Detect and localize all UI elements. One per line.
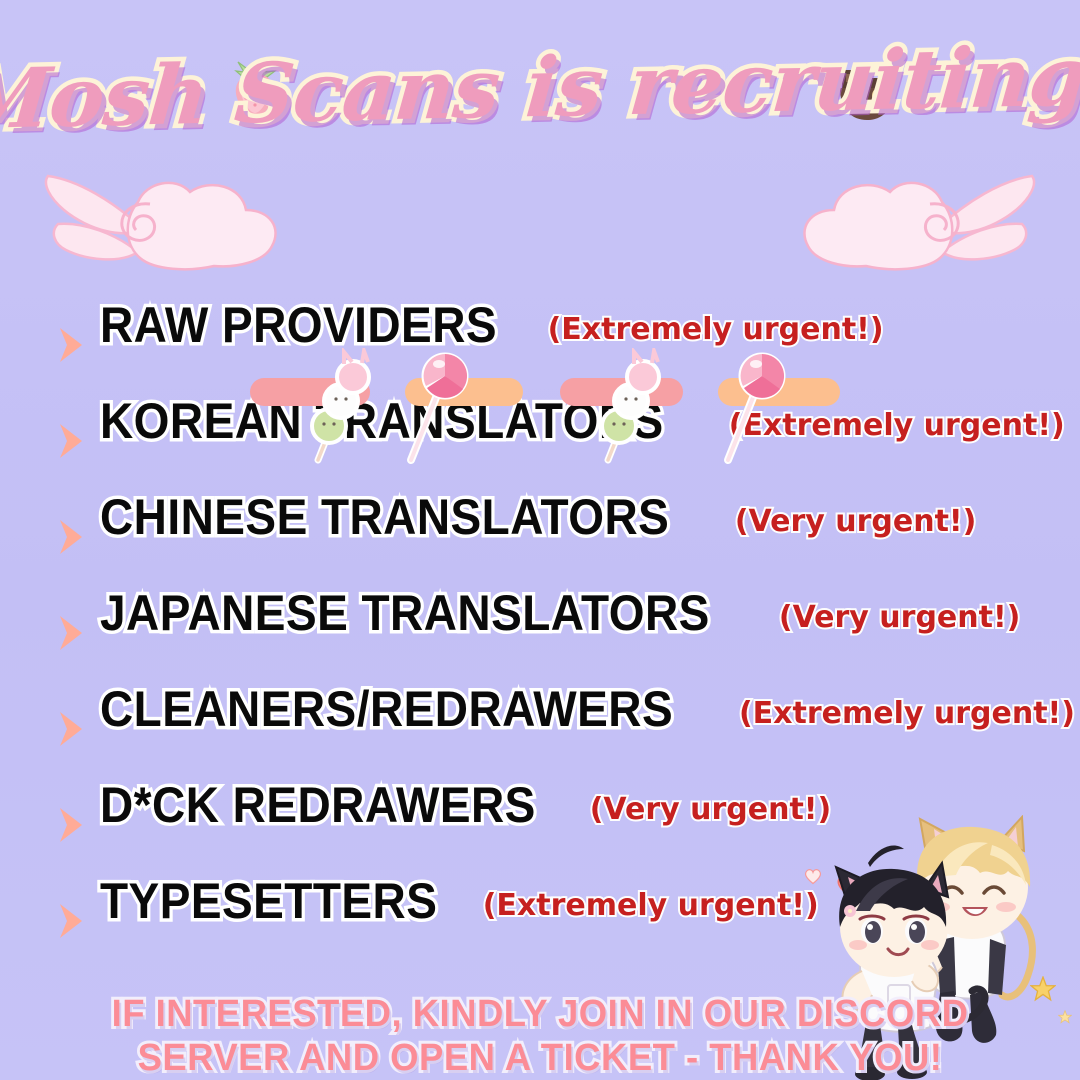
list-item: RAW PROVIDERS (Extremely urgent!) — [0, 296, 1080, 392]
role-urgency-badge: (Very urgent!) — [735, 504, 977, 539]
recruitment-poster: Mosh Scans is recruiting! — [0, 0, 1080, 1080]
chevron-right-icon — [54, 324, 88, 366]
list-item: CLEANERS/REDRAWERS (Extremely urgent!) — [0, 680, 1080, 776]
list-item: JAPANESE TRANSLATORS (Very urgent!) — [0, 584, 1080, 680]
role-urgency-badge: (Extremely urgent!) — [548, 312, 884, 347]
lollipop-icon — [395, 346, 477, 466]
lollipop-icon — [712, 346, 794, 466]
decorative-divider — [0, 160, 1080, 295]
footer-line-1: IF INTERESTED, KINDLY JOIN IN OUR DISCOR… — [22, 992, 1059, 1036]
list-item: KOREAN TRANSLATORS (Extremely urgent!) — [0, 392, 1080, 488]
role-title: CHINESE TRANSLATORS — [100, 488, 669, 546]
list-item: CHINESE TRANSLATORS (Very urgent!) — [0, 488, 1080, 584]
chevron-right-icon — [54, 708, 88, 750]
chevron-right-icon — [54, 420, 88, 462]
footer-callout: IF INTERESTED, KINDLY JOIN IN OUR DISCOR… — [0, 992, 1080, 1080]
page-title: Mosh Scans is recruiting! — [0, 28, 1080, 148]
chevron-right-icon — [54, 516, 88, 558]
footer-line-2: SERVER AND OPEN A TICKET - THANK YOU! — [22, 1036, 1059, 1080]
winged-cloud-icon — [787, 162, 1062, 292]
chevron-right-icon — [54, 612, 88, 654]
dango-skewer-icon — [590, 348, 672, 468]
role-title: TYPESETTERS — [100, 872, 437, 930]
role-urgency-badge: (Very urgent!) — [779, 600, 1021, 635]
role-urgency-badge: (Extremely urgent!) — [739, 696, 1075, 731]
chevron-right-icon — [54, 804, 88, 846]
role-title: JAPANESE TRANSLATORS — [100, 584, 710, 642]
chevron-right-icon — [54, 900, 88, 942]
winged-cloud-icon — [18, 162, 293, 292]
dango-skewer-icon — [300, 348, 382, 468]
role-title: CLEANERS/REDRAWERS — [100, 680, 673, 738]
title-area: Mosh Scans is recruiting! — [0, 28, 1080, 148]
role-urgency-badge: (Extremely urgent!) — [483, 888, 819, 923]
role-title: D*CK REDRAWERS — [100, 776, 536, 834]
